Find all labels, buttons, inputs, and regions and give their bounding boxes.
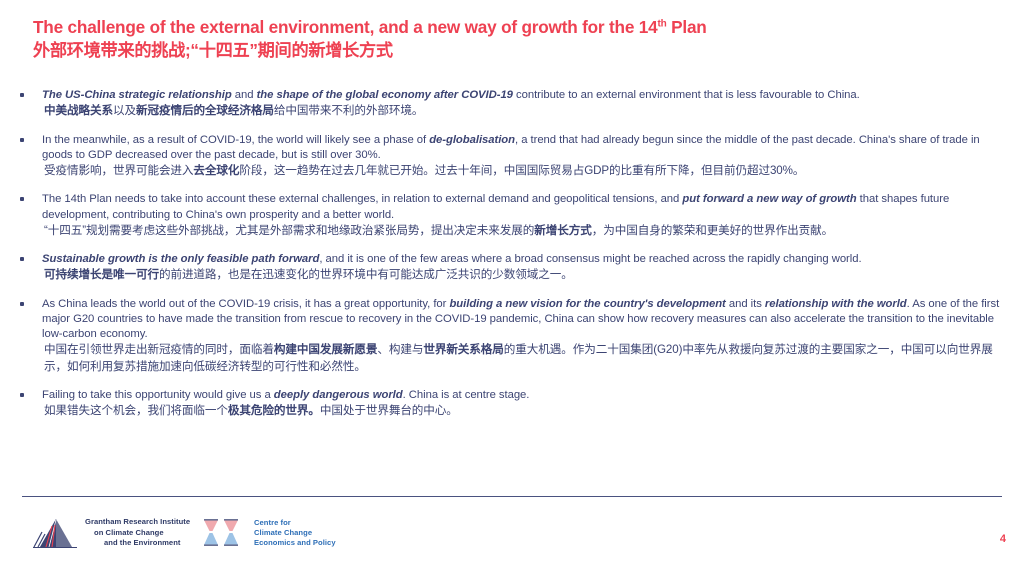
text-run: 去全球化	[193, 164, 239, 177]
bullet-sustainable-growth: Sustainable growth is the only feasible …	[12, 252, 1012, 284]
grantham-logo-line-1: Grantham Research Institute	[85, 517, 190, 528]
text-run: In the meanwhile, as a result of COVID-1…	[42, 134, 429, 146]
cccep-logo-line-1: Centre for	[254, 518, 336, 528]
text-run: ，为中国自身的繁荣和更美好的世界作出贡献。	[592, 224, 833, 237]
cccep-logo-wordmark: Centre for Climate Change Economics and …	[254, 518, 336, 549]
text-run: relationship with the world	[765, 298, 907, 310]
bullet-text-english: The 14th Plan needs to take into account…	[42, 192, 1012, 223]
grantham-logo-wordmark: Grantham Research Institute on Climate C…	[85, 517, 190, 549]
text-run: The 14th Plan needs to take into account…	[42, 193, 682, 205]
hourglass-icon	[200, 516, 246, 550]
text-run: contribute to an external environment th…	[513, 89, 860, 101]
bullet-marker-icon	[20, 257, 24, 261]
text-run: and its	[726, 298, 765, 310]
bullet-marker-icon	[20, 197, 24, 201]
bullet-text-chinese: 可持续增长是唯一可行的前进道路，也是在迅速变化的世界环境中有可能达成广泛共识的少…	[42, 267, 1012, 283]
slide-title-english: The challenge of the external environmen…	[33, 17, 993, 38]
cccep-logo-line-2: Climate Change	[254, 528, 336, 538]
bullet-text-english: In the meanwhile, as a result of COVID-1…	[42, 133, 1012, 164]
text-run: 如果错失这个机会，我们将面临一个	[44, 404, 228, 417]
text-run: put forward a new way of growth	[682, 193, 856, 205]
slide: The challenge of the external environmen…	[0, 0, 1024, 576]
text-run: 世界新关系格局	[423, 343, 503, 356]
bullet-marker-icon	[20, 138, 24, 142]
text-run: 新冠疫情后的全球经济格局	[136, 104, 274, 117]
bullet-text-chinese: 中美战略关系以及新冠疫情后的全球经济格局给中国带来不利的外部环境。	[42, 103, 1012, 119]
bullet-text-english: Failing to take this opportunity would g…	[42, 388, 1012, 403]
bullet-text-chinese: “十四五”规划需要考虑这些外部挑战，尤其是外部需求和地缘政治紧张局势，提出决定未…	[42, 223, 1012, 239]
text-run: As China leads the world out of the COVI…	[42, 298, 449, 310]
text-run: deeply dangerous world	[274, 389, 403, 401]
text-run: 、构建与	[377, 343, 423, 356]
cccep-logo: Centre for Climate Change Economics and …	[200, 516, 336, 550]
text-run: . China is at centre stage.	[403, 389, 530, 401]
text-run: 中国处于世界舞台的中心。	[320, 404, 458, 417]
bullet-text-english: As China leads the world out of the COVI…	[42, 297, 1012, 343]
bullet-marker-icon	[20, 393, 24, 397]
slide-title: The challenge of the external environmen…	[33, 17, 993, 61]
bullet-text-chinese: 受疫情影响，世界可能会进入去全球化阶段，这一趋势在过去几年就已开始。过去十年间，…	[42, 163, 1012, 179]
slide-title-english-tail: Plan	[667, 17, 707, 37]
bullet-text-chinese: 中国在引领世界走出新冠疫情的同时，面临着构建中国发展新愿景、构建与世界新关系格局…	[42, 342, 1012, 374]
page-number: 4	[1000, 533, 1006, 545]
mountain-icon	[32, 516, 78, 550]
bullet-text-chinese: 如果错失这个机会，我们将面临一个极其危险的世界。中国处于世界舞台的中心。	[42, 403, 1012, 419]
text-run: 极其危险的世界。	[228, 404, 320, 417]
grantham-research-institute-logo: Grantham Research Institute on Climate C…	[32, 516, 190, 550]
bullet-dangerous-world: Failing to take this opportunity would g…	[12, 388, 1012, 420]
bullet-marker-icon	[20, 302, 24, 306]
text-run: 可持续增长是唯一可行	[44, 268, 159, 281]
text-run: the shape of the global economy after CO…	[257, 89, 513, 101]
bullet-de-globalisation: In the meanwhile, as a result of COVID-1…	[12, 133, 1012, 180]
footer-divider	[22, 496, 1002, 497]
text-run: 中国在引领世界走出新冠疫情的同时，面临着	[44, 343, 274, 356]
grantham-logo-line-3: and the Environment	[85, 538, 190, 549]
cccep-logo-line-3: Economics and Policy	[254, 538, 336, 548]
bullet-text-english: Sustainable growth is the only feasible …	[42, 252, 1012, 267]
grantham-logo-line-2: on Climate Change	[85, 528, 190, 539]
text-run: , and it is one of the few areas where a…	[319, 253, 861, 265]
bullet-text-english: The US-China strategic relationship and …	[42, 88, 1012, 103]
text-run: 的前进道路，也是在迅速变化的世界环境中有可能达成广泛共识的少数领域之一。	[159, 268, 573, 281]
slide-body: The US-China strategic relationship and …	[12, 88, 1012, 432]
text-run: 受疫情影响，世界可能会进入	[44, 164, 193, 177]
text-run: 给中国带来不利的外部环境。	[274, 104, 423, 117]
text-run: 构建中国发展新愿景	[274, 343, 377, 356]
slide-title-english-main: The challenge of the external environmen…	[33, 17, 657, 37]
slide-title-chinese: 外部环境带来的挑战;“十四五”期间的新增长方式	[33, 39, 993, 61]
text-run: The US-China strategic relationship	[42, 89, 232, 101]
text-run: 中美战略关系	[44, 104, 113, 117]
text-run: 阶段，这一趋势在过去几年就已开始。过去十年间，中国国际贸易占GDP的比重有所下降…	[239, 164, 804, 177]
slide-footer: Grantham Research Institute on Climate C…	[22, 508, 1002, 568]
text-run: building a new vision for the country's …	[449, 298, 725, 310]
text-run: 新增长方式	[534, 224, 591, 237]
bullet-14th-plan-new-growth: The 14th Plan needs to take into account…	[12, 192, 1012, 239]
text-run: de-globalisation	[429, 134, 515, 146]
bullet-us-china-relationship: The US-China strategic relationship and …	[12, 88, 1012, 120]
bullet-new-vision-development: As China leads the world out of the COVI…	[12, 297, 1012, 375]
bullet-marker-icon	[20, 93, 24, 97]
text-run: Failing to take this opportunity would g…	[42, 389, 274, 401]
text-run: “十四五”规划需要考虑这些外部挑战，尤其是外部需求和地缘政治紧张局势，提出决定未…	[44, 224, 534, 237]
text-run: and	[232, 89, 257, 101]
text-run: Sustainable growth is the only feasible …	[42, 253, 319, 265]
slide-title-ordinal-suffix: th	[657, 18, 666, 29]
text-run: 以及	[113, 104, 136, 117]
